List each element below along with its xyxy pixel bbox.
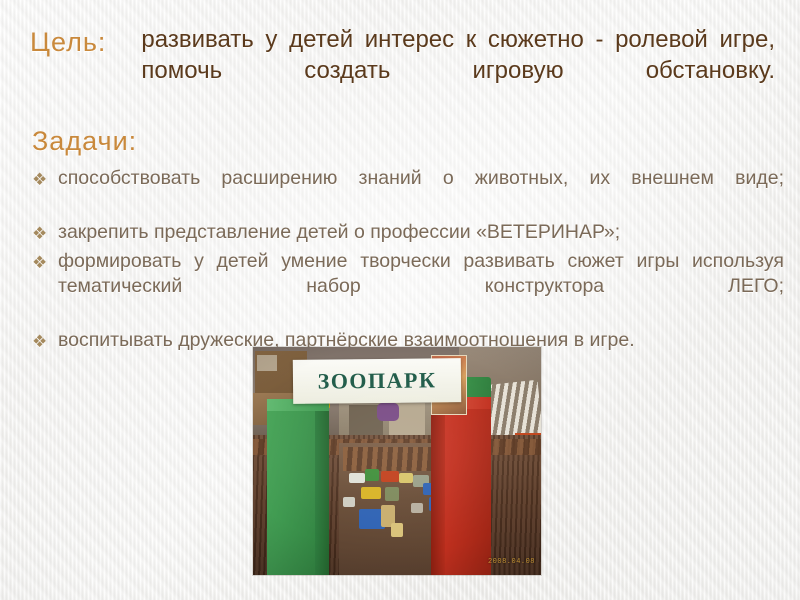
photo-lego-piece	[349, 473, 365, 483]
list-item: ❖ закрепить представление детей о профес…	[32, 220, 784, 246]
goal-text: развивать у детей интерес к сюжетно - ро…	[141, 24, 775, 117]
photo-lego-piece	[391, 523, 403, 537]
photo-lego-piece	[399, 473, 413, 483]
list-item: ❖ формировать у детей умение творчески р…	[32, 249, 784, 326]
list-item-text: формировать у детей умение творчески раз…	[58, 249, 784, 326]
photo-purple-toy	[377, 403, 399, 421]
goal-block: Цель: развивать у детей интерес к сюжетн…	[30, 24, 775, 117]
tasks-label: Задачи:	[32, 126, 137, 157]
tasks-list: ❖ способствовать расширению знаний о жив…	[32, 166, 784, 357]
photo-lego-piece	[411, 503, 423, 513]
slide-content: Цель: развивать у детей интерес к сюжетн…	[0, 0, 800, 600]
list-item-text: способствовать расширению знаний о живот…	[58, 166, 784, 217]
photo-lego-piece	[343, 497, 355, 507]
zoo-sign-text: ЗООПАРК	[317, 367, 436, 394]
photo-box-label	[257, 355, 277, 371]
photo-green-column-side	[315, 403, 329, 575]
photo-lego-piece	[385, 487, 399, 501]
list-item-text: закрепить представление детей о професси…	[58, 220, 784, 246]
diamond-bullet-icon: ❖	[32, 221, 47, 246]
goal-label: Цель:	[30, 24, 106, 59]
slide-canvas: Цель: развивать у детей интерес к сюжетн…	[0, 0, 800, 600]
zoo-sign: ЗООПАРК	[293, 358, 461, 404]
zoo-play-area-photo: ЗООПАРК 2008.04.08	[253, 347, 541, 575]
photo-lego-piece	[365, 469, 379, 481]
photo-red-column-side	[431, 401, 445, 575]
photo-date-stamp: 2008.04.08	[488, 558, 535, 566]
photo-lego-piece	[361, 487, 381, 499]
list-item: ❖ способствовать расширению знаний о жив…	[32, 166, 784, 217]
diamond-bullet-icon: ❖	[32, 329, 47, 354]
diamond-bullet-icon: ❖	[32, 250, 47, 275]
photo-lego-piece	[381, 471, 399, 482]
diamond-bullet-icon: ❖	[32, 167, 47, 192]
